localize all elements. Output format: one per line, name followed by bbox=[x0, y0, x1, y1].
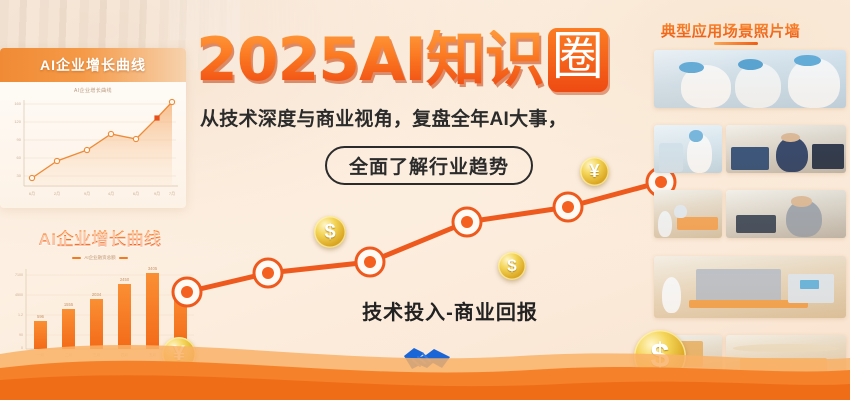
svg-text:596: 596 bbox=[37, 314, 45, 319]
photo-wall-title: 典型应用场景照片墙 bbox=[623, 20, 838, 41]
coin-yuan-upper: ¥ bbox=[580, 157, 609, 186]
page-subtitle: 从技术深度与商业视角，复盘全年AI大事， bbox=[200, 104, 680, 131]
svg-text:2034: 2034 bbox=[92, 292, 102, 297]
photo-clinical-device[interactable] bbox=[654, 125, 722, 173]
svg-text:160: 160 bbox=[14, 101, 21, 106]
photo-smart-factory[interactable] bbox=[654, 256, 846, 318]
legend-swatch-icon bbox=[72, 257, 81, 260]
photo-cleanroom-line[interactable] bbox=[654, 190, 722, 238]
line-marker-group bbox=[173, 168, 675, 306]
page-title-badge: 圈 bbox=[548, 28, 608, 91]
svg-text:7100: 7100 bbox=[15, 273, 23, 277]
coin-dollar-glyph: $ bbox=[324, 221, 335, 244]
legend-swatch-icon-2 bbox=[119, 257, 128, 260]
svg-text:1.2: 1.2 bbox=[18, 313, 23, 317]
page-title: 2025AI知识圈 bbox=[196, 24, 676, 96]
photo-wall-underline bbox=[714, 42, 758, 45]
mini-area-chart-svg: 160120 9060 30 6月2月 9月4月 6月9月 7月 bbox=[0, 82, 186, 208]
trend-pill-button[interactable]: 全面了解行业趋势 bbox=[325, 146, 533, 185]
svg-text:2550: 2550 bbox=[176, 280, 186, 285]
coin-dollar-glyph-2: $ bbox=[507, 256, 516, 276]
card-line-chart-header: AI企业增长曲线 bbox=[0, 48, 186, 82]
svg-text:9月: 9月 bbox=[154, 191, 160, 196]
coin-dollar-right: $ bbox=[498, 252, 526, 280]
svg-text:2450: 2450 bbox=[120, 277, 130, 282]
photo-laptop-professional[interactable] bbox=[726, 190, 846, 238]
svg-text:30: 30 bbox=[17, 173, 22, 178]
bottom-wave-decoration bbox=[0, 320, 850, 400]
svg-text:90: 90 bbox=[17, 137, 22, 142]
card-line-chart-title: AI企业增长曲线 bbox=[40, 55, 146, 75]
svg-text:120: 120 bbox=[14, 119, 21, 124]
coin-yuan-glyph: ¥ bbox=[589, 161, 599, 182]
svg-text:4月: 4月 bbox=[108, 191, 114, 196]
card-line-chart[interactable]: AI企业增长曲线 AI企业增长曲线 bbox=[0, 48, 186, 208]
page-title-main: 2025AI知识 bbox=[196, 30, 544, 90]
svg-text:60: 60 bbox=[17, 155, 22, 160]
photo-medical-consult[interactable] bbox=[654, 50, 846, 108]
poster-canvas: AI企业增长曲线 AI企业增长曲线 bbox=[0, 0, 850, 400]
svg-text:6月: 6月 bbox=[133, 191, 139, 196]
coin-dollar-mid: $ bbox=[314, 216, 346, 248]
card-bar-chart-legend-label: AI企业融资总额 bbox=[84, 255, 115, 261]
mini-area-chart: AI企业增长曲线 bbox=[0, 82, 186, 208]
svg-text:2月: 2月 bbox=[54, 191, 60, 196]
svg-text:1555: 1555 bbox=[64, 302, 74, 307]
svg-text:4500: 4500 bbox=[15, 293, 23, 297]
photo-office-analyst[interactable] bbox=[726, 125, 846, 173]
svg-text:7月: 7月 bbox=[169, 191, 175, 196]
card-bar-chart-legend: AI企业融资总额 bbox=[0, 255, 200, 261]
svg-text:9月: 9月 bbox=[84, 191, 90, 196]
svg-text:3405: 3405 bbox=[148, 266, 158, 271]
card-bar-chart-title: AI企业增长曲线 bbox=[0, 225, 200, 250]
mini-area-chart-caption: AI企业增长曲线 bbox=[0, 87, 186, 94]
svg-text:6月: 6月 bbox=[29, 191, 35, 196]
